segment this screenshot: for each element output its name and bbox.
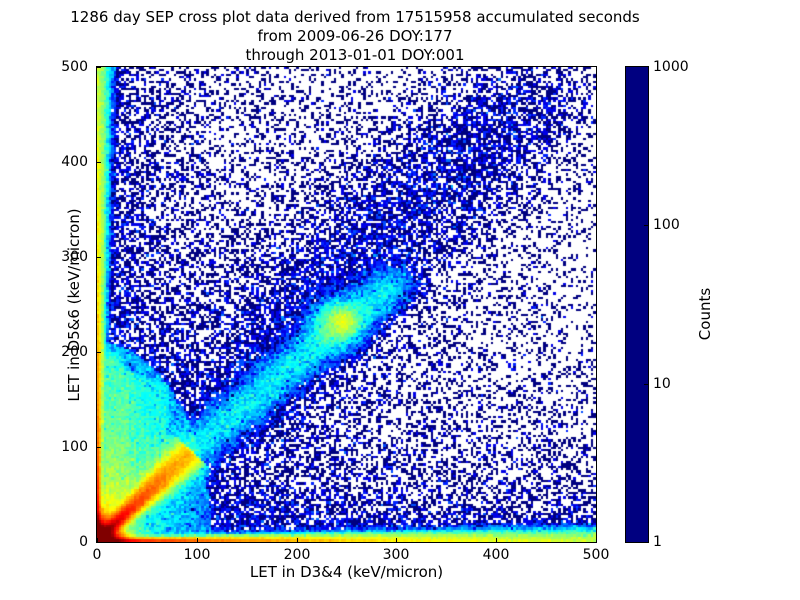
chart-title-line-3: through 2013-01-01 DOY:001 — [0, 46, 710, 65]
y-tick-mark — [97, 67, 101, 68]
y-tick-mark — [97, 162, 101, 163]
colorbar-tick-label: 10 — [653, 376, 671, 392]
y-tick-mark — [97, 352, 101, 353]
x-tick-mark — [297, 538, 298, 542]
x-tick-label: 200 — [284, 547, 311, 563]
y-axis-label: LET in D5&6 (keV/micron) — [65, 105, 83, 505]
y-tick-label: 0 — [34, 534, 88, 550]
y-tick-label: 500 — [34, 59, 88, 75]
y-tick-mark — [97, 257, 101, 258]
x-tick-mark — [396, 538, 397, 542]
plot-area — [96, 66, 597, 543]
colorbar-tick-label: 100 — [653, 217, 680, 233]
x-tick-mark — [197, 538, 198, 542]
x-tick-mark — [496, 538, 497, 542]
colorbar-gradient — [626, 67, 648, 542]
colorbar-tick-label: 1 — [653, 534, 662, 550]
x-tick-mark — [596, 538, 597, 542]
y-tick-mark — [97, 447, 101, 448]
x-tick-label: 400 — [483, 547, 510, 563]
colorbar-tick-mark — [644, 384, 648, 385]
chart-title-line-2: from 2009-06-26 DOY:177 — [0, 27, 710, 46]
x-tick-label: 500 — [583, 547, 610, 563]
density-heatmap — [97, 67, 596, 542]
x-axis-label: LET in D3&4 (keV/micron) — [96, 563, 597, 581]
colorbar-tick-label: 1000 — [653, 59, 689, 75]
x-tick-label: 300 — [383, 547, 410, 563]
chart-title: 1286 day SEP cross plot data derived fro… — [0, 8, 710, 65]
figure-canvas: 1286 day SEP cross plot data derived fro… — [0, 0, 800, 600]
colorbar-tick-mark — [644, 225, 648, 226]
colorbar — [625, 66, 649, 543]
x-tick-label: 0 — [93, 547, 102, 563]
y-tick-mark — [97, 542, 101, 543]
x-tick-label: 100 — [184, 547, 211, 563]
chart-title-line-1: 1286 day SEP cross plot data derived fro… — [0, 8, 710, 27]
colorbar-label: Counts — [696, 214, 714, 414]
